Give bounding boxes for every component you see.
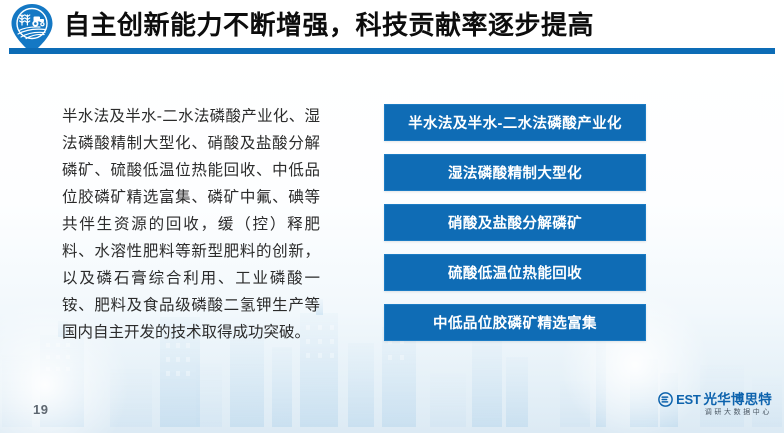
footer-logo-chinese: 光华博思特	[704, 393, 773, 407]
technology-box: 半水法及半水-二水法磷酸产业化	[384, 104, 646, 141]
footer-logo-row: EST 光华博思特	[658, 392, 772, 407]
footer-logo: EST 光华博思特 调研大数据中心	[658, 392, 772, 417]
footer-logo-subtitle: 调研大数据中心	[705, 408, 772, 417]
technology-box-label: 半水法及半水-二水法磷酸产业化	[408, 112, 622, 133]
body-paragraph: 半水法及半水-二水法磷酸产业化、湿法磷酸精制大型化、硝酸及盐酸分解磷矿、硫酸低温…	[62, 103, 320, 346]
page-number: 19	[33, 402, 48, 417]
header-divider	[9, 48, 775, 54]
technology-box: 硝酸及盐酸分解磷矿	[384, 204, 646, 241]
slide: 自主创新能力不断增强，科技贡献率逐步提高 半水法及半水-二水法磷酸产业化、湿法磷…	[0, 0, 784, 433]
page-title: 自主创新能力不断增强，科技贡献率逐步提高	[64, 8, 594, 42]
technology-box-label: 中低品位胶磷矿精选富集	[433, 312, 597, 333]
technology-box-label: 硝酸及盐酸分解磷矿	[448, 212, 582, 233]
technology-box-label: 湿法磷酸精制大型化	[448, 162, 582, 183]
technology-box: 硫酸低温位热能回收	[384, 254, 646, 291]
best-circle-logo-icon	[658, 392, 673, 407]
technology-box-label: 硫酸低温位热能回收	[448, 262, 582, 283]
technology-box: 中低品位胶磷矿精选富集	[384, 304, 646, 341]
technology-box: 湿法磷酸精制大型化	[384, 154, 646, 191]
location-pin-agriculture-icon	[9, 3, 55, 53]
footer-logo-latin: EST	[676, 393, 700, 407]
technology-box-list: 半水法及半水-二水法磷酸产业化 湿法磷酸精制大型化 硝酸及盐酸分解磷矿 硫酸低温…	[384, 104, 646, 341]
slide-header: 自主创新能力不断增强，科技贡献率逐步提高	[0, 0, 784, 52]
